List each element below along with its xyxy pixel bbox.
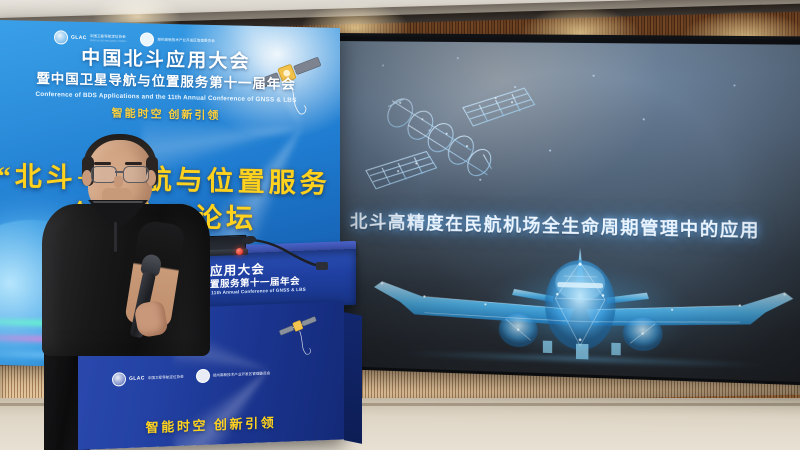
screen-vignette — [336, 36, 800, 383]
backdrop-logo-row: GLAC 中国卫星导航定位协会 GNSS & LBS Association o… — [54, 29, 244, 49]
logo-abbr: GLAC — [71, 35, 87, 40]
circle-emblem-icon — [140, 32, 154, 46]
logo-abbr: GLAC — [129, 376, 145, 382]
eyebrow-right — [125, 162, 142, 165]
logo-glac: GLAC 中国卫星导航定位协会 GNSS & LBS Association o… — [54, 30, 126, 46]
mic-indicator-light — [236, 248, 243, 255]
circle-emblem-icon — [196, 369, 210, 384]
logo-zhengzhou-hitech: 郑州高新技术产业开发区管理委员会 — [140, 32, 215, 48]
eyeglasses-bridge — [115, 171, 123, 173]
polo-placket — [114, 222, 117, 252]
podium-side-panel — [344, 312, 362, 444]
logo-name-en: GNSS & LBS Association of China — [90, 39, 127, 43]
podium-slogan: 智能时空 创新引领 — [78, 409, 344, 439]
conference-photo-scene: 北斗高精度在民航机场全生命周期管理中的应用 — [0, 0, 800, 450]
globe-emblem-icon — [54, 30, 68, 44]
gooseneck-microphone-icon[interactable] — [236, 236, 328, 270]
globe-emblem-icon — [112, 372, 126, 387]
backdrop-slogan: 智能时空 创新引领 — [0, 102, 340, 126]
podium-logo-row: GLAC 中国卫星导航定位协会 郑州高新技术产业开发区管理委员会 — [112, 366, 270, 386]
nose — [114, 176, 123, 188]
presentation-screen[interactable]: 北斗高精度在民航机场全生命周期管理中的应用 — [336, 36, 800, 383]
eyebrow-left — [94, 162, 111, 165]
speaker-person — [36, 126, 212, 356]
logo-name-cn: 中国卫星导航定位协会 — [148, 375, 184, 380]
eyeglasses-lens-right — [123, 166, 149, 183]
podium-logo-zhengzhou-hitech: 郑州高新技术产业开发区管理委员会 — [196, 366, 271, 383]
podium-satellite-icon — [278, 306, 320, 364]
backdrop-headline: 中国北斗应用大会 暨中国卫星导航与位置服务第十一届年会 Conference o… — [0, 46, 340, 126]
podium-logo-glac: GLAC 中国卫星导航定位协会 — [112, 370, 184, 387]
logo-name-cn: 郑州高新技术产业开发区管理委员会 — [157, 38, 215, 43]
logo-name-cn: 郑州高新技术产业开发区管理委员会 — [213, 371, 271, 377]
